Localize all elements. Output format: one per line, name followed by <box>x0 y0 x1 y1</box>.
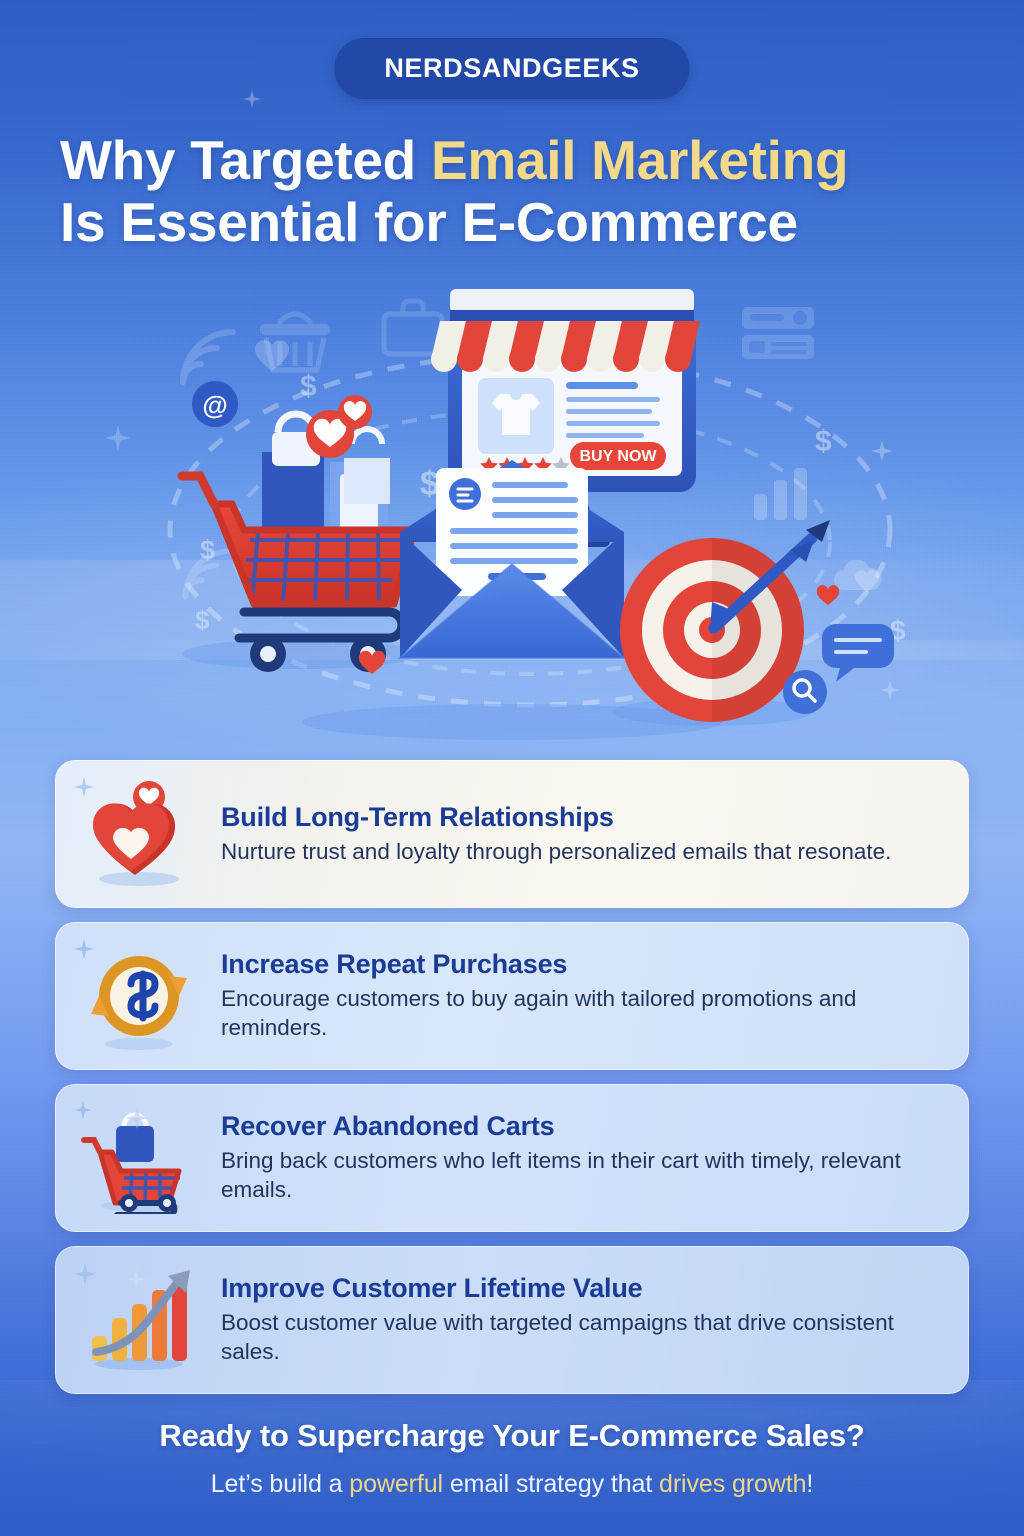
sparkle-icon <box>74 777 94 802</box>
search-bubble-icon <box>783 670 827 714</box>
hero-illustration: BUY NOW <box>0 282 1024 752</box>
headline-line1-white: Why Targeted <box>60 129 431 191</box>
sparkle-icon <box>74 1263 96 1290</box>
sparkle-icon-2 <box>126 1107 148 1134</box>
benefits-list: Build Long-Term Relationships Nurture tr… <box>55 760 969 1408</box>
infographic-poster: $ $ $ $ $ $ NERDSANDGEEKS Why Targeted E… <box>0 0 1024 1536</box>
at-symbol-icon: @ <box>192 381 238 427</box>
benefit-card-abandoned-carts[interactable]: Recover Abandoned Carts Bring back custo… <box>55 1084 969 1232</box>
card-description: Boost customer value with targeted campa… <box>221 1309 942 1367</box>
card-title: Improve Customer Lifetime Value <box>221 1273 942 1304</box>
benefit-card-relationships[interactable]: Build Long-Term Relationships Nurture tr… <box>55 760 969 908</box>
card-description: Nurture trust and loyalty through person… <box>221 838 942 867</box>
sparkle-watermark-icon-2 <box>243 90 261 108</box>
sparkle-icon-2 <box>126 1269 146 1294</box>
sparkle-icon <box>74 939 94 964</box>
headline-line1-gold: Email Marketing <box>431 129 848 191</box>
heart-badge-small <box>338 395 372 429</box>
brand-badge: NERDSANDGEEKS <box>334 38 689 99</box>
benefit-card-repeat-purchases[interactable]: Increase Repeat Purchases Encourage cust… <box>55 922 969 1070</box>
chat-bubble-icon <box>822 624 894 682</box>
page-title: Why Targeted Email Marketing Is Essentia… <box>60 130 969 253</box>
call-to-action: Ready to Supercharge Your E-Commerce Sal… <box>0 1418 1024 1499</box>
headline-line2: Is Essential for E-Commerce <box>60 192 969 254</box>
cta-sub-part-c: ! <box>806 1470 813 1498</box>
cta-sub-part-a: Let’s build a <box>211 1470 350 1498</box>
benefit-card-lifetime-value[interactable]: Improve Customer Lifetime Value Boost cu… <box>55 1246 969 1394</box>
cta-headline: Ready to Supercharge Your E-Commerce Sal… <box>0 1418 1024 1454</box>
card-description: Bring back customers who left items in t… <box>221 1147 942 1205</box>
card-title: Increase Repeat Purchases <box>221 949 942 980</box>
cta-sub-part-b: email strategy that <box>443 1470 659 1498</box>
card-description: Encourage customers to buy again with ta… <box>221 985 942 1043</box>
cta-subtext: Let’s build a powerful email strategy th… <box>0 1470 1024 1499</box>
svg-text:@: @ <box>202 390 227 420</box>
card-title: Recover Abandoned Carts <box>221 1111 942 1142</box>
sparkle-icon <box>74 1101 92 1124</box>
buy-now-button-label: BUY NOW <box>579 448 657 465</box>
heart-mini-icon <box>817 585 839 605</box>
cta-sub-highlight-growth: drives growth <box>659 1470 806 1498</box>
card-title: Build Long-Term Relationships <box>221 802 942 833</box>
hero-shopping-cart <box>182 414 414 672</box>
cta-sub-highlight-powerful: powerful <box>349 1470 443 1498</box>
